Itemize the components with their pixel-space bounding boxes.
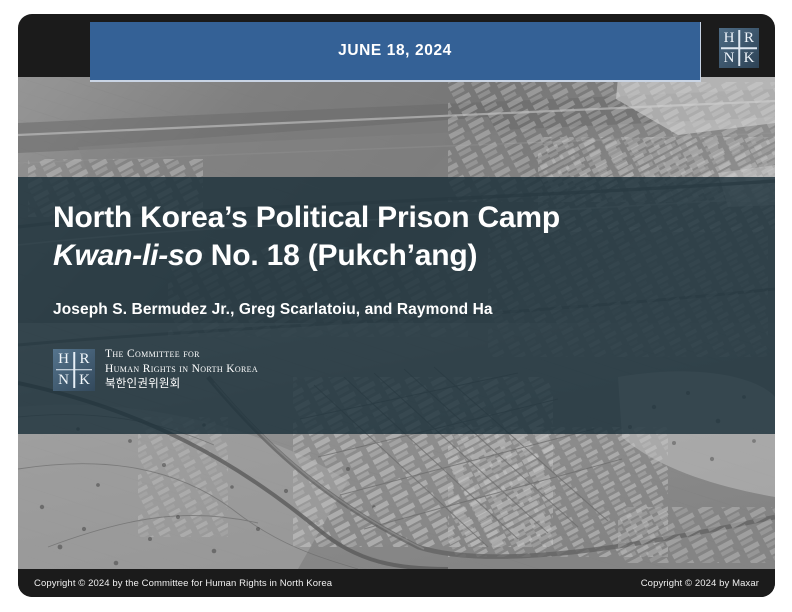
hrnk-logo-icon: H R N K: [719, 28, 759, 68]
report-title-line-2-rest: No. 18 (Pukch’ang): [203, 239, 478, 272]
hrnk-logo-icon: H R N K: [53, 349, 95, 391]
hrnk-letter-n: N: [53, 370, 74, 391]
organization-name-line-1: The Committee for: [105, 347, 258, 362]
footer-copyright-left: Copyright © 2024 by the Committee for Hu…: [34, 578, 332, 589]
cover-page: JUNE 18, 2024 H R N K North Korea’s Poli…: [0, 0, 792, 612]
report-cover-card: JUNE 18, 2024 H R N K North Korea’s Poli…: [18, 14, 775, 597]
title-block: North Korea’s Political Prison Camp Kwan…: [53, 199, 713, 393]
organization-name: The Committee for Human Rights in North …: [105, 347, 258, 393]
organization-name-korean: 북한인권위원회: [105, 377, 258, 393]
report-title-line-2: Kwan-li-so No. 18 (Pukch’ang): [53, 237, 713, 275]
report-title-italic-term: Kwan-li-so: [53, 239, 203, 272]
hrnk-letter-k: K: [739, 48, 759, 68]
organization-name-line-2: Human Rights in North Korea: [105, 362, 258, 377]
footer-copyright-right: Copyright © 2024 by Maxar: [641, 578, 759, 589]
hrnk-letter-n: N: [719, 48, 739, 68]
footer-bar: Copyright © 2024 by the Committee for Hu…: [18, 569, 775, 597]
hrnk-corner-logo: H R N K: [713, 22, 765, 74]
date-label: JUNE 18, 2024: [338, 42, 452, 59]
organization-lockup: H R N K The Committee for Human Rights i…: [53, 347, 713, 393]
hrnk-letter-r: R: [74, 349, 95, 370]
authors-line: Joseph S. Bermudez Jr., Greg Scarlatoiu,…: [53, 301, 713, 319]
hrnk-letter-k: K: [74, 370, 95, 391]
hrnk-letter-h: H: [53, 349, 74, 370]
hrnk-letter-h: H: [719, 28, 739, 48]
hrnk-letter-r: R: [739, 28, 759, 48]
report-title-line-1: North Korea’s Political Prison Camp: [53, 199, 713, 237]
date-bar: JUNE 18, 2024: [90, 22, 701, 82]
